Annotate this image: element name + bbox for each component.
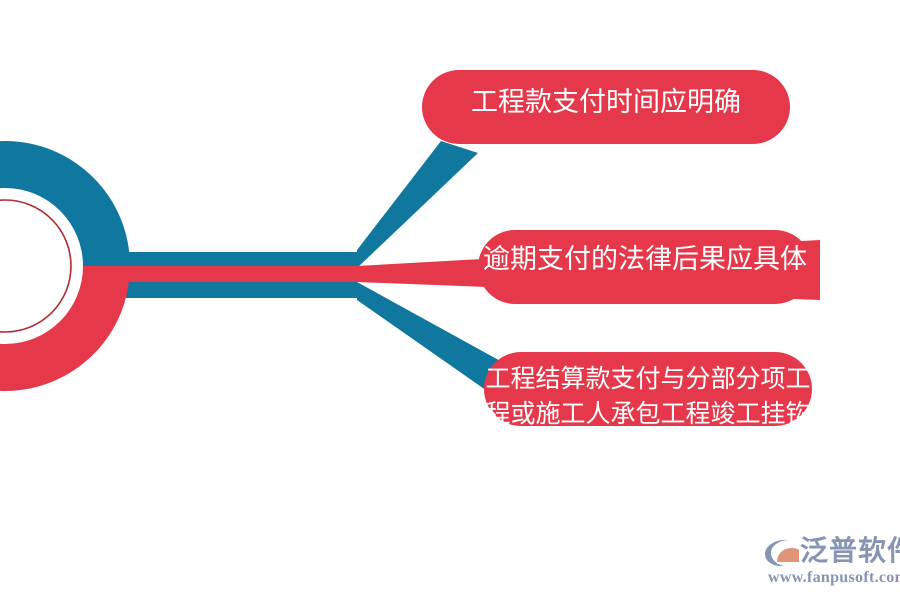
hub-ring-lower-red-left [0, 266, 5, 391]
c-arc-logo-icon [764, 538, 800, 568]
trunk-bar-red-middle [112, 266, 357, 282]
node-label-3: 工程结算款支付与分部分项工程或施工人承包工程竣工挂钩 [474, 362, 822, 432]
diagram-canvas: 工程款支付时间应明确 逾期支付的法律后果应具体 工程结算款支付与分部分项工程或施… [0, 0, 900, 600]
branch-connector-1 [357, 141, 478, 268]
logo-url: www.fanpusoft.com [768, 568, 900, 587]
node-label-2: 逾期支付的法律后果应具体 [478, 240, 812, 278]
logo-wordmark: 泛普软件 [800, 534, 900, 568]
trunk-bar-teal-bottom [112, 282, 357, 298]
node-label-1: 工程款支付时间应明确 [422, 83, 790, 121]
trunk-bar-teal-top [112, 252, 357, 266]
logo[interactable]: 泛普软件 www.fanpusoft.com [764, 534, 896, 592]
